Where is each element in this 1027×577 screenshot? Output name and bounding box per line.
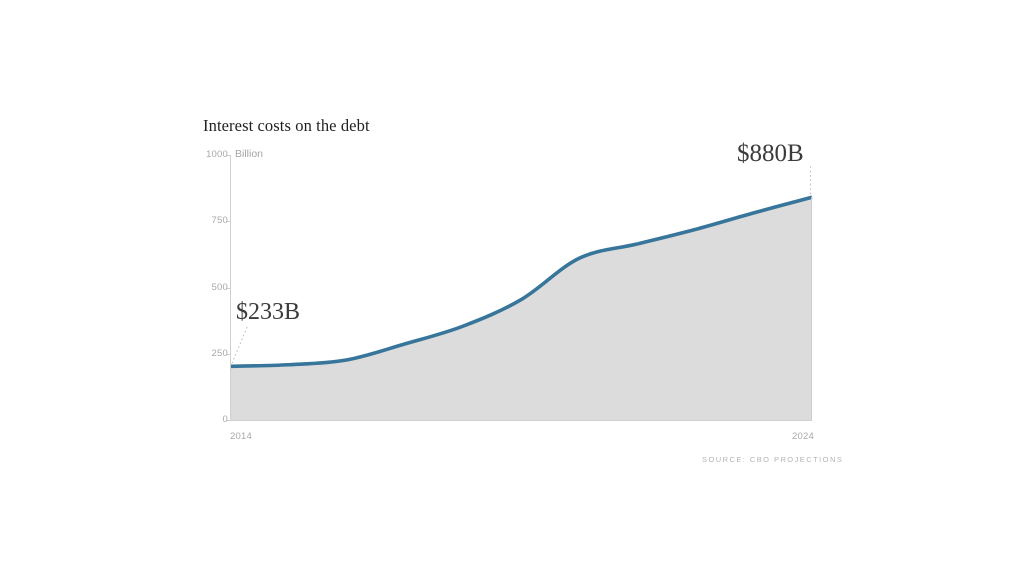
area-chart-canvas	[0, 0, 1027, 577]
x-tick-label-2014: 2014	[230, 431, 252, 442]
series-area-fill-overlay	[230, 197, 812, 420]
x-tick-label-2024: 2024	[792, 431, 814, 442]
start-value-leader-line	[232, 325, 248, 363]
y-tick-label-750: 750	[188, 216, 228, 226]
y-tick-label-250: 250	[188, 349, 228, 359]
start-value-callout: $233B	[236, 299, 300, 326]
y-tick-label-0: 0	[188, 415, 228, 425]
plot-area	[0, 0, 1027, 577]
chart-card: Interest costs on the debt Billion	[0, 0, 1027, 577]
source-note: SOURCE: CBO PROJECTIONS	[702, 455, 843, 464]
y-tick-label-500: 500	[188, 283, 228, 293]
y-tick-label-1000: 1000	[188, 150, 228, 160]
end-value-callout: $880B	[737, 140, 804, 168]
